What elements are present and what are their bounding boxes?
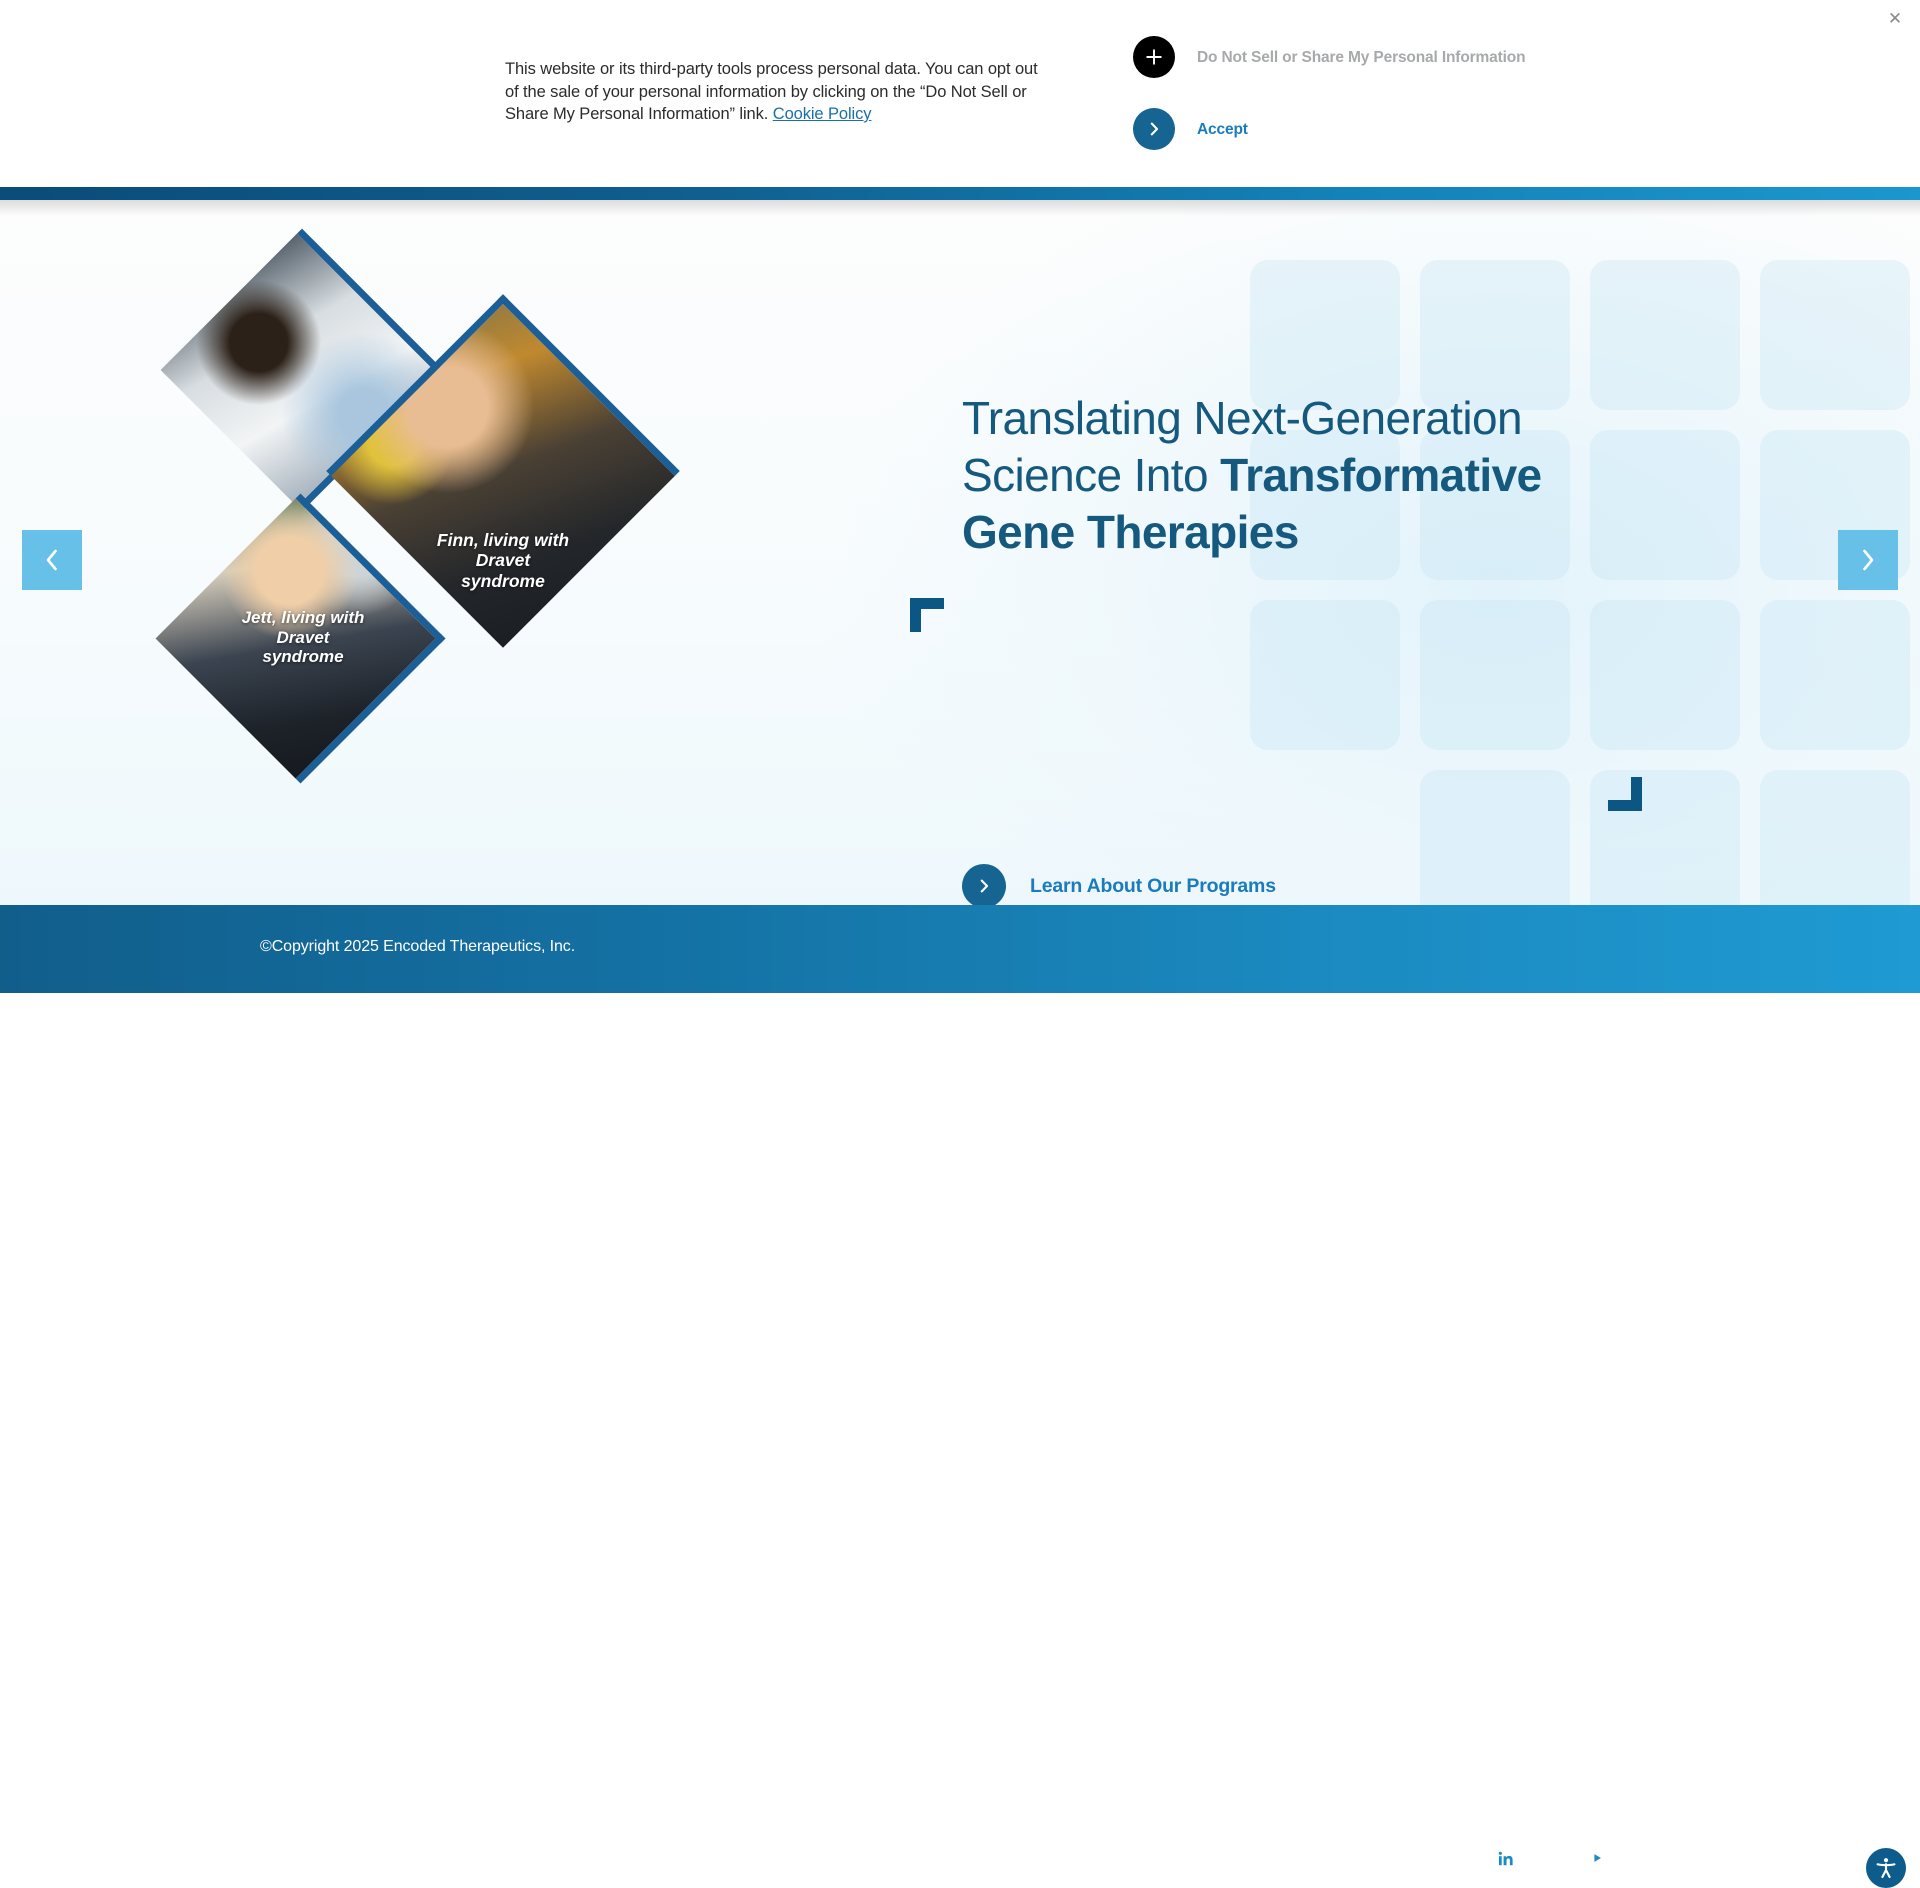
carousel-next-button[interactable] <box>1838 530 1898 590</box>
decor-square <box>1420 770 1570 905</box>
headline-line-2-regular: Science Into <box>962 449 1220 501</box>
do-not-sell-label: Do Not Sell or Share My Personal Informa… <box>1197 48 1525 67</box>
decor-square <box>1590 260 1740 410</box>
x-twitter-icon[interactable] <box>1538 1845 1564 1871</box>
social-media-guidelines-link[interactable]: Social Media Guidelines <box>1380 1841 1472 1875</box>
linkedin-icon[interactable] <box>1492 1845 1518 1871</box>
footer-link-cookie-policy[interactable]: COOKIE POLICY <box>1094 1850 1213 1866</box>
hero-carousel: Finn, living with Dravet syndrome Jett, … <box>0 200 1920 905</box>
cookie-banner-message: This website or its third-party tools pr… <box>505 58 1050 126</box>
cookie-policy-link[interactable]: Cookie Policy <box>773 105 872 123</box>
decor-square <box>1420 600 1570 750</box>
jett-photo <box>156 498 437 779</box>
headline-line-2-bold: Transformative <box>1220 449 1541 501</box>
decor-square <box>1760 260 1910 410</box>
site-footer: ©Copyright 2025 Encoded Therapeutics, In… <box>0 905 1920 993</box>
do-not-sell-button[interactable]: Do Not Sell or Share My Personal Informa… <box>1133 36 1525 78</box>
cookie-consent-banner: ✕ This website or its third-party tools … <box>0 0 1920 185</box>
brand-divider-bar <box>0 187 1920 200</box>
footer-link-separator: | <box>1076 1850 1080 1866</box>
decor-square <box>1760 600 1910 750</box>
chevron-right-icon <box>1857 547 1879 573</box>
footer-links: TERMS OF USE | PRIVACY POLICY | COOKIE P… <box>792 1850 1214 1866</box>
headline-line-1: Translating Next-Generation <box>962 392 1522 444</box>
youtube-icon[interactable] <box>1584 1845 1610 1871</box>
chevron-right-icon <box>1133 108 1175 150</box>
chevron-left-icon <box>41 547 63 573</box>
decor-square <box>1590 600 1740 750</box>
chevron-right-icon <box>962 864 1006 905</box>
decor-bracket-bottom-right <box>1608 777 1642 811</box>
copyright-text: ©Copyright 2025 Encoded Therapeutics, In… <box>260 938 575 956</box>
cookie-banner-message-text: This website or its third-party tools pr… <box>505 60 1038 123</box>
decor-bracket-top-left <box>910 598 944 632</box>
divider-shadow <box>0 200 1920 216</box>
hero-copy: Translating Next-Generation Science Into… <box>962 390 1642 561</box>
learn-about-programs-button[interactable]: Learn About Our Programs <box>962 864 1276 905</box>
headline-line-3-bold: Gene Therapies <box>962 506 1299 558</box>
page-title: Translating Next-Generation Science Into… <box>962 390 1642 561</box>
learn-about-programs-label: Learn About Our Programs <box>1030 875 1276 898</box>
footer-link-privacy-policy[interactable]: PRIVACY POLICY <box>937 1850 1062 1866</box>
decor-square <box>1760 770 1910 905</box>
decor-square <box>1250 600 1400 750</box>
decor-square <box>1250 260 1400 410</box>
plus-icon <box>1133 36 1175 78</box>
accessibility-icon[interactable] <box>1866 1848 1906 1888</box>
accept-label: Accept <box>1197 120 1248 139</box>
decor-square <box>1420 260 1570 410</box>
footer-link-terms-of-use[interactable]: TERMS OF USE <box>792 1850 904 1866</box>
accept-button[interactable]: Accept <box>1133 108 1248 150</box>
footer-social-section: Social Media Guidelines <box>1380 1841 1610 1875</box>
carousel-prev-button[interactable] <box>22 530 82 590</box>
footer-link-separator: | <box>918 1850 922 1866</box>
close-icon[interactable]: ✕ <box>1884 8 1906 30</box>
